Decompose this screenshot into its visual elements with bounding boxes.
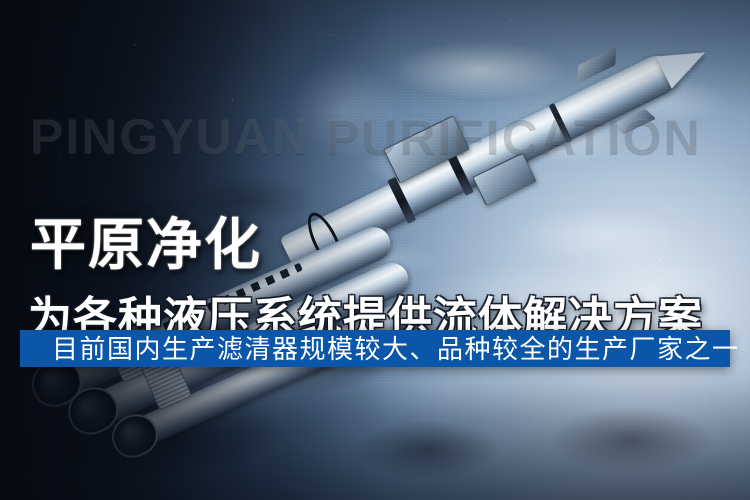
hero-banner: PINGYUAN PURIFICATION 平原净化 为各种液压系统提供流体解决… — [0, 0, 750, 500]
tagline-text: 目前国内生产滤清器规模较大、品种较全的生产厂家之一 — [52, 336, 740, 362]
brand-watermark: PINGYUAN PURIFICATION — [30, 112, 730, 162]
tagline-bar: 目前国内生产滤清器规模较大、品种较全的生产厂家之一 — [20, 330, 730, 367]
page-title: 平原净化 — [30, 216, 262, 275]
